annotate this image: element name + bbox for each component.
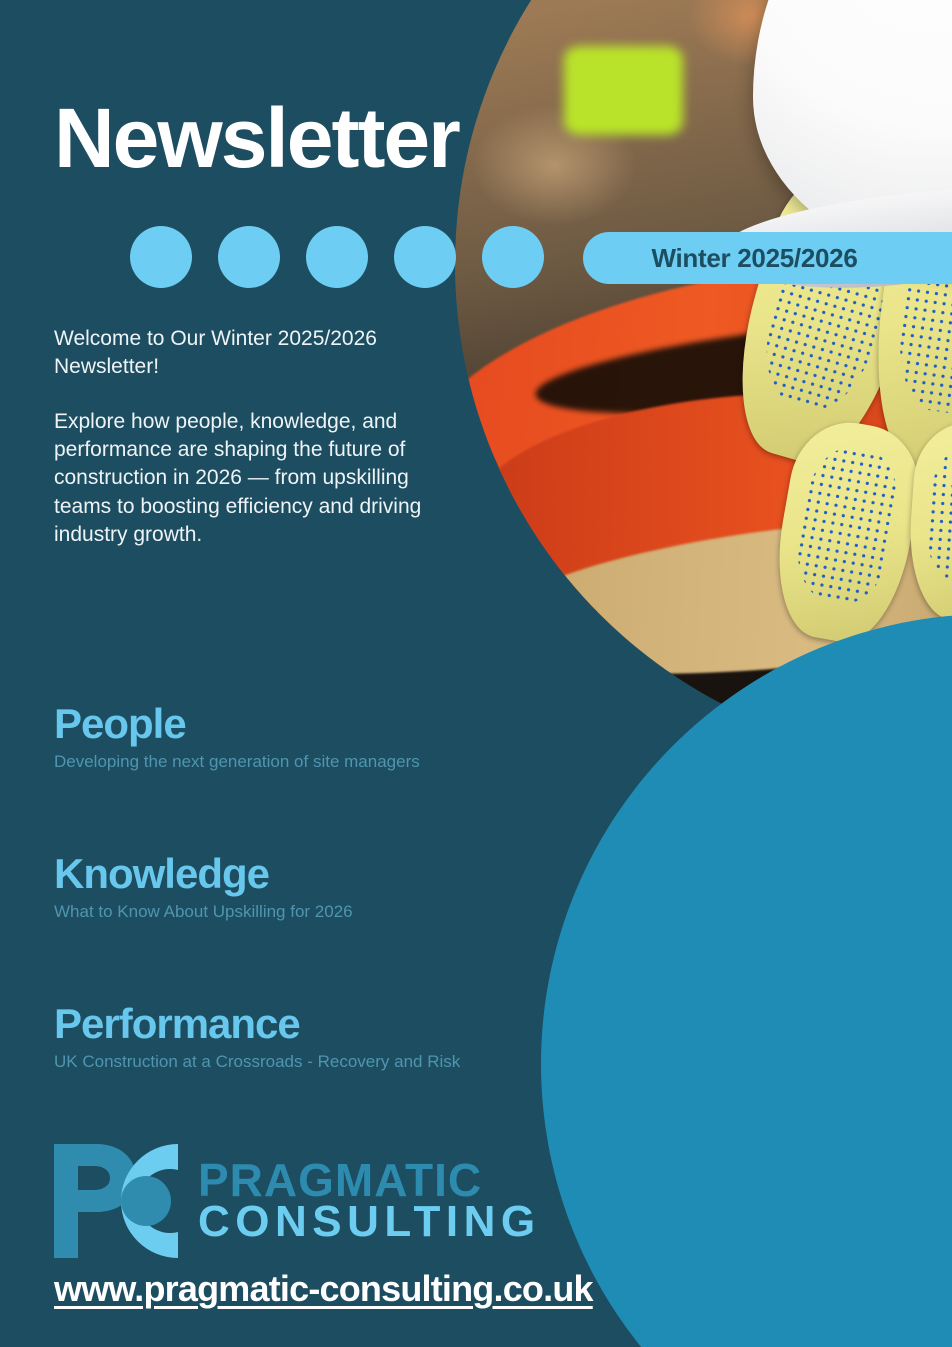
season-badge-label: Winter 2025/2026	[652, 243, 858, 274]
brand-logo[interactable]: PRAGMATIC CONSULTING	[52, 1140, 541, 1262]
intro-text-block: Welcome to Our Winter 2025/2026 Newslett…	[54, 325, 454, 549]
intro-body: Explore how people, knowledge, and perfo…	[54, 408, 454, 550]
intro-welcome: Welcome to Our Winter 2025/2026 Newslett…	[54, 325, 454, 382]
decorative-dot	[218, 226, 280, 288]
glove-grip-dots	[924, 444, 952, 589]
section-people[interactable]: People Developing the next generation of…	[54, 702, 420, 772]
decorative-dot	[130, 226, 192, 288]
website-url-link[interactable]: www.pragmatic-consulting.co.uk	[54, 1268, 593, 1310]
intro-spacer	[54, 382, 454, 408]
decorative-dot-row	[130, 226, 544, 288]
section-knowledge-subtitle: What to Know About Upskilling for 2026	[54, 902, 353, 922]
section-performance-title: Performance	[54, 1002, 460, 1046]
section-performance-subtitle: UK Construction at a Crossroads - Recove…	[54, 1052, 460, 1072]
decorative-dot	[394, 226, 456, 288]
section-people-subtitle: Developing the next generation of site m…	[54, 752, 420, 772]
glove-grip-dots	[789, 442, 907, 609]
page-title: Newsletter	[54, 96, 459, 180]
season-badge: Winter 2025/2026	[583, 232, 952, 284]
section-knowledge-title: Knowledge	[54, 852, 353, 896]
photo-blurred-green-object	[564, 46, 683, 135]
decorative-dot	[482, 226, 544, 288]
section-performance[interactable]: Performance UK Construction at a Crossro…	[54, 1002, 460, 1072]
logo-wordmark: PRAGMATIC CONSULTING	[198, 1159, 541, 1243]
logo-word-pragmatic: PRAGMATIC	[198, 1159, 541, 1202]
decorative-dot	[306, 226, 368, 288]
newsletter-cover-page: Newsletter Winter 2025/2026 Welcome to O…	[0, 0, 952, 1347]
pc-monogram-icon	[52, 1140, 180, 1262]
section-knowledge[interactable]: Knowledge What to Know About Upskilling …	[54, 852, 353, 922]
section-people-title: People	[54, 702, 420, 746]
logo-word-consulting: CONSULTING	[198, 1202, 541, 1243]
logo-inner-dot	[121, 1176, 171, 1226]
